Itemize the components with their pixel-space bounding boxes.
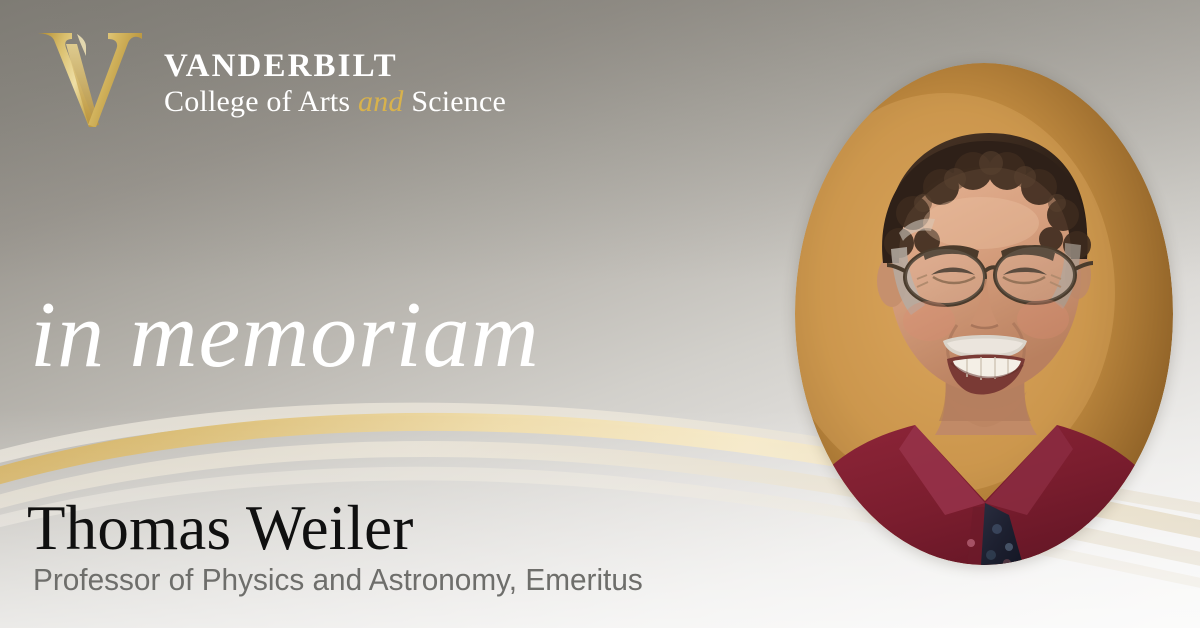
college-name: College of Arts and Science <box>164 84 506 121</box>
university-name: VANDERBILT <box>164 49 506 84</box>
college-name-part1: College of Arts <box>164 85 358 118</box>
college-name-and: and <box>358 85 404 118</box>
vanderbilt-logo: VANDERBILT College of Arts and Science <box>36 26 506 138</box>
vanderbilt-wordmark: VANDERBILT College of Arts and Science <box>164 43 506 120</box>
in-memoriam-headline: in memoriam <box>30 288 540 382</box>
portrait-photo <box>795 63 1173 565</box>
in-memoriam-card: VANDERBILT College of Arts and Science i… <box>0 0 1200 628</box>
portrait-illustration <box>795 63 1173 565</box>
person-name: Thomas Weiler <box>27 497 414 560</box>
college-name-part2: Science <box>404 85 506 118</box>
vanderbilt-v-monogram <box>36 26 144 138</box>
person-role: Professor of Physics and Astronomy, Emer… <box>33 564 643 595</box>
